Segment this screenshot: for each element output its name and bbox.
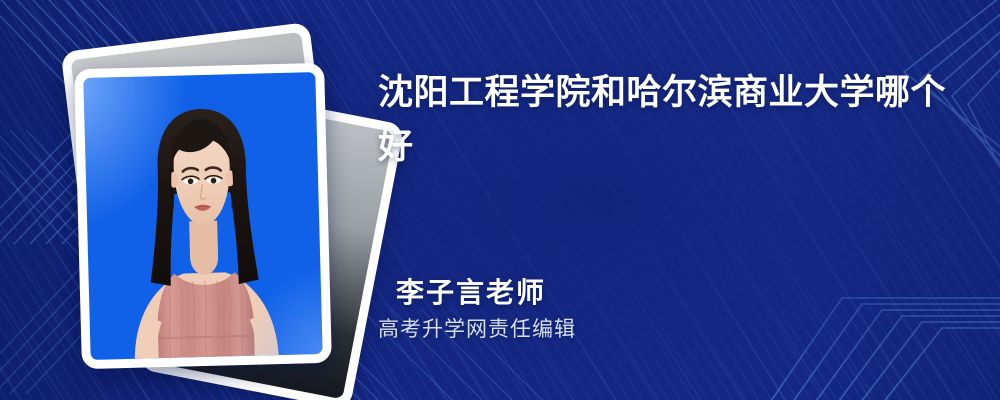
page-title: 沈阳工程学院和哈尔滨商业大学哪个好 — [378, 66, 948, 174]
author-byline: 李子言老师 高考升学网责任编辑 — [378, 276, 938, 344]
author-portrait-illustration — [83, 72, 322, 360]
author-role: 高考升学网责任编辑 — [378, 316, 938, 344]
author-portrait-photo — [83, 72, 322, 360]
banner-text-block: 沈阳工程学院和哈尔滨商业大学哪个好 李子言老师 高考升学网责任编辑 — [378, 66, 958, 174]
photo-card-front — [74, 63, 332, 369]
author-name: 李子言老师 — [396, 276, 938, 310]
article-cover-banner: 沈阳工程学院和哈尔滨商业大学哪个好 李子言老师 高考升学网责任编辑 — [0, 0, 1000, 400]
photo-card-stack — [56, 30, 366, 375]
